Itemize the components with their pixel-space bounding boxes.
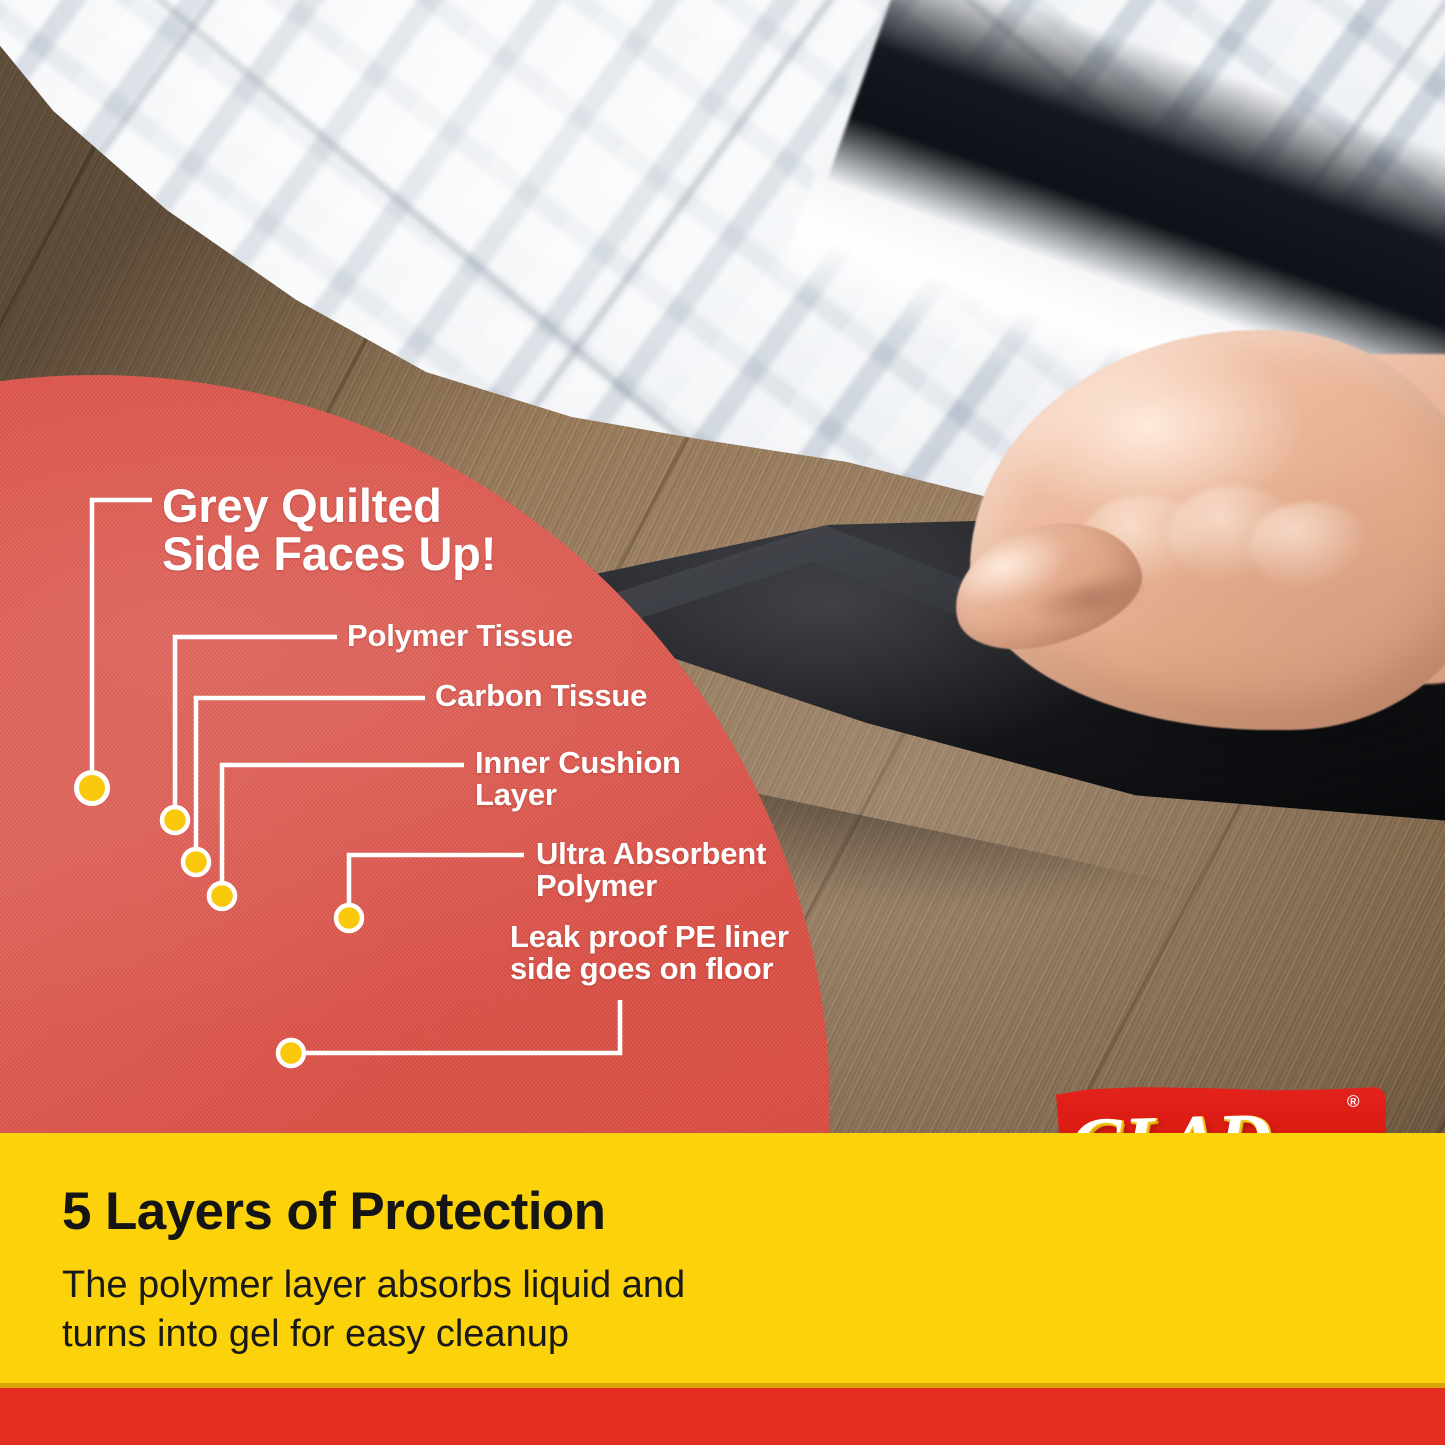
product-feature-image: Grey Quilted Side Faces Up! Polymer Tiss… (0, 0, 1445, 1445)
label-polymer-tissue: Polymer Tissue (347, 620, 573, 652)
label-inner-cushion: Inner Cushion Layer (475, 747, 681, 811)
label-leak-proof-line2: side goes on floor (510, 953, 789, 985)
label-leak-proof: Leak proof PE liner side goes on floor (510, 921, 789, 985)
label-inner-cushion-line2: Layer (475, 779, 681, 811)
label-leak-proof-line1: Leak proof PE liner (510, 921, 789, 953)
bottom-red-stripe (0, 1388, 1445, 1445)
label-inner-cushion-line1: Inner Cushion (475, 747, 681, 779)
footer-title: 5 Layers of Protection (62, 1181, 605, 1242)
footer-band: 5 Layers of Protection The polymer layer… (0, 1133, 1445, 1388)
callout-heading-line1: Grey Quilted (162, 482, 496, 530)
knuckle-3 (1250, 502, 1370, 590)
footer-body: The polymer layer absorbs liquid and tur… (62, 1261, 862, 1358)
footer-body-line2: turns into gel for easy cleanup (62, 1310, 862, 1359)
label-ultra-absorbent-line1: Ultra Absorbent (536, 838, 766, 870)
registered-trademark-icon: ® (1347, 1092, 1360, 1112)
label-ultra-absorbent: Ultra Absorbent Polymer (536, 838, 766, 902)
hand (930, 310, 1445, 780)
callout-heading-line2: Side Faces Up! (162, 530, 496, 578)
label-ultra-absorbent-line2: Polymer (536, 870, 766, 902)
callout-heading: Grey Quilted Side Faces Up! (162, 482, 496, 578)
footer-body-line1: The polymer layer absorbs liquid and (62, 1261, 862, 1310)
label-carbon-tissue: Carbon Tissue (435, 680, 647, 712)
